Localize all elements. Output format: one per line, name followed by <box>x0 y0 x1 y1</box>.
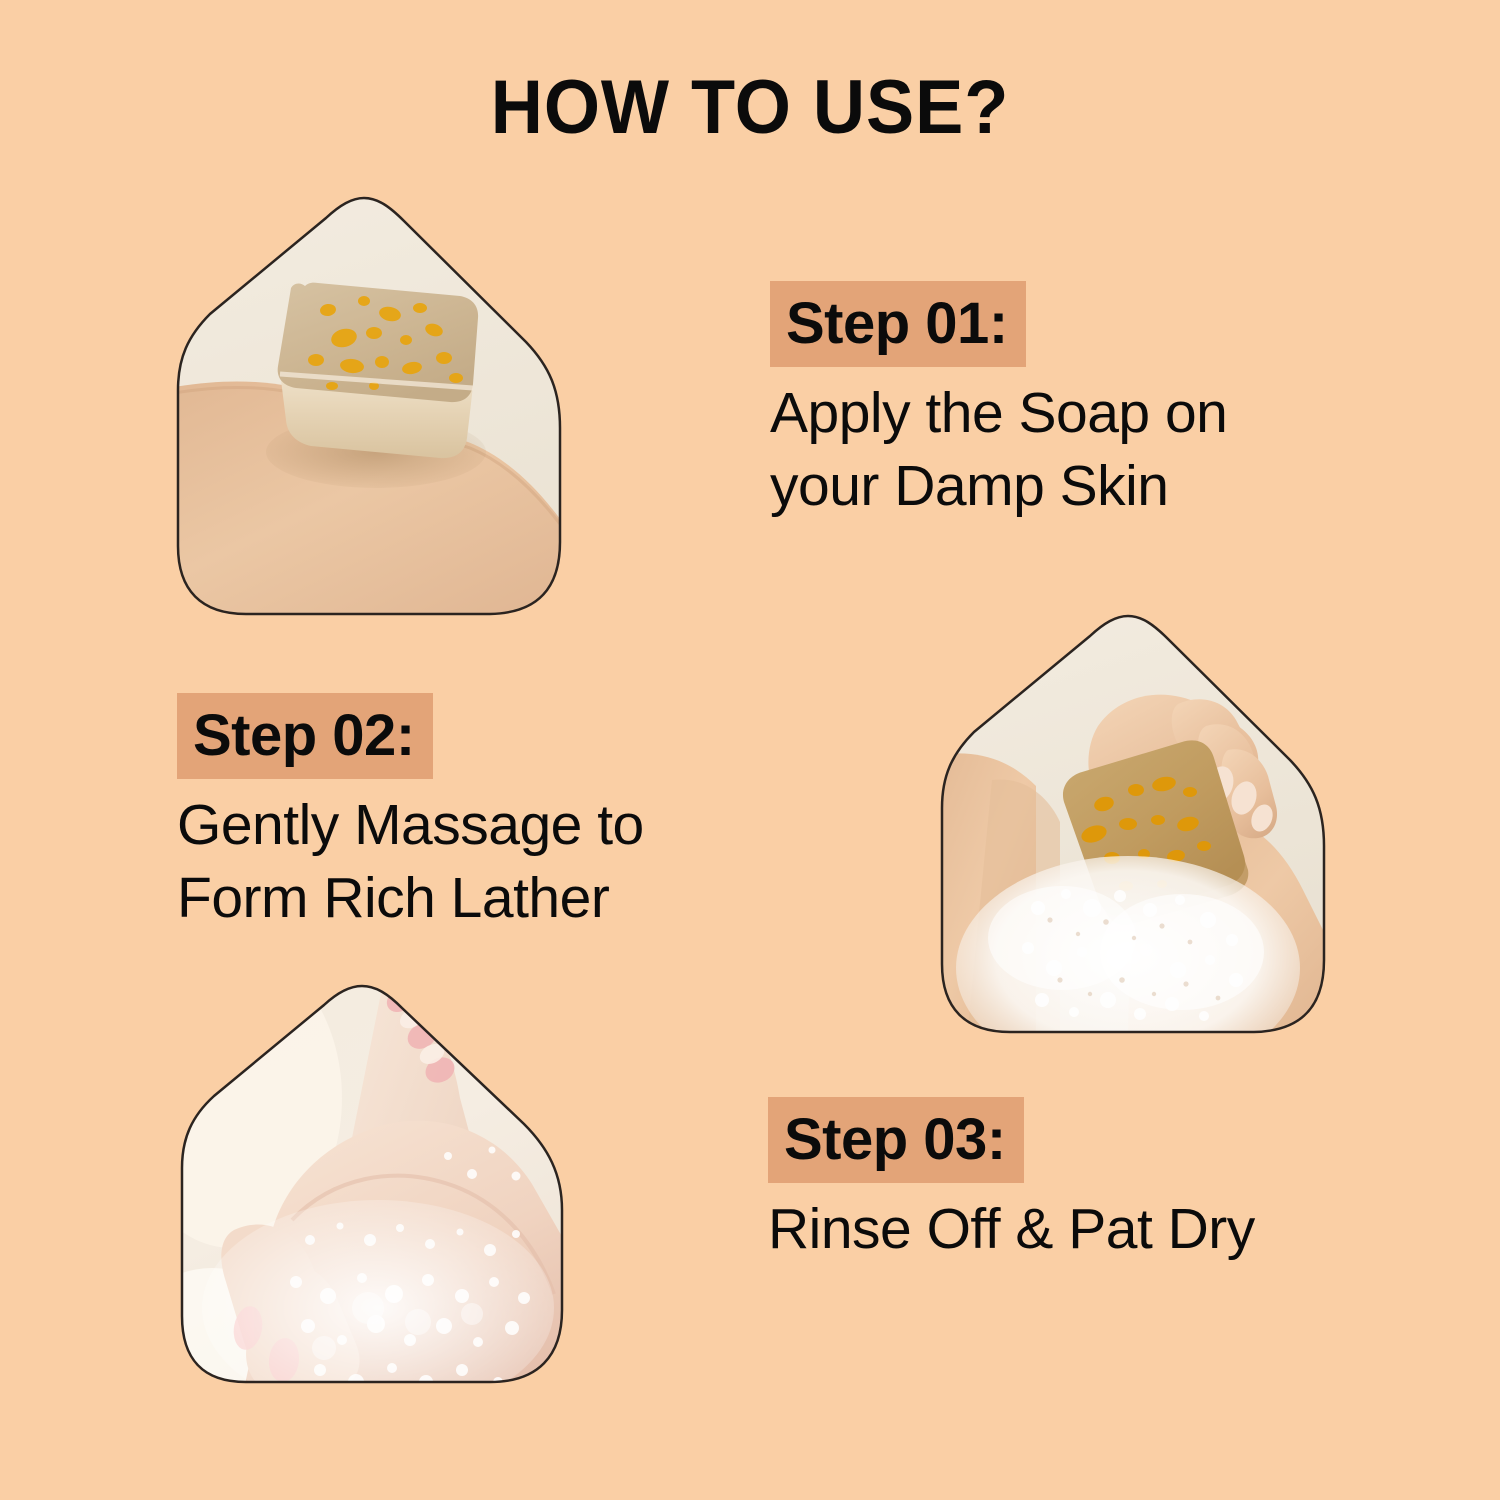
step-1-label: Step 01: <box>770 281 1026 367</box>
step-2-block: Step 02: Gently Massage to Form Rich Lat… <box>177 693 644 935</box>
step-3-description: Rinse Off & Pat Dry <box>768 1193 1255 1266</box>
step-3-block: Step 03: Rinse Off & Pat Dry <box>768 1097 1255 1266</box>
how-to-use-infographic: HOW TO USE? <box>0 0 1500 1500</box>
step-1-description: Apply the Soap on your Damp Skin <box>770 377 1227 523</box>
step-3-photo <box>172 978 572 1390</box>
step-1-photo <box>168 190 568 622</box>
step-1-block: Step 01: Apply the Soap on your Damp Ski… <box>770 281 1227 523</box>
step-2-label: Step 02: <box>177 693 433 779</box>
step-2-description: Gently Massage to Form Rich Lather <box>177 789 644 935</box>
step-3-label: Step 03: <box>768 1097 1024 1183</box>
page-title: HOW TO USE? <box>38 70 1463 146</box>
step-2-photo <box>932 608 1332 1040</box>
